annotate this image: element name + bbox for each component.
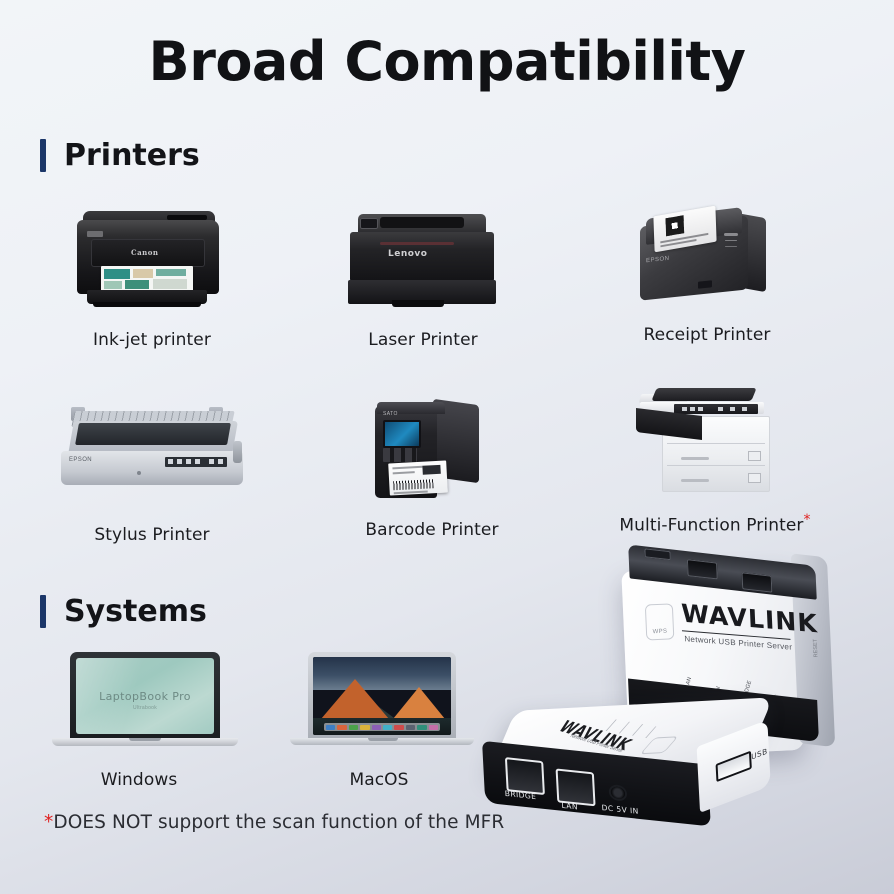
compat-item-receipt: EPSON Receipt Printer [582,193,832,345]
item-label: Stylus Printer [27,525,277,545]
compat-item-macos: MacOS [254,638,504,790]
product-photo-group: WPS WAVLINK Network USB Printer Server W… [470,535,894,894]
asterisk-marker: * [804,512,811,528]
section-header-systems: Systems [40,594,207,629]
laser-printer-icon: Lenovo [318,198,528,318]
printer-brand-mark: Lenovo [388,249,427,259]
printed-page [101,266,193,292]
printer-brand-mark: EPSON [69,457,92,463]
footnote-text: DOES NOT support the scan function of th… [53,812,504,833]
printer-brand-mark: Canon [131,248,158,257]
item-label: Multi-Function Printer* [590,512,840,536]
port-label-dc-in: DC 5V IN [601,803,638,816]
usb-a-port[interactable] [716,751,752,783]
page-title: Broad Compatibility [0,30,894,93]
section-title-systems: Systems [64,594,207,629]
lcd-screen [383,420,421,448]
compat-item-stylus: EPSON Stylus Printer [27,393,277,545]
macbook-icon [274,638,484,758]
macos-dock [324,723,440,731]
port-label-lan: LAN [561,801,578,812]
receipt-printer-icon: EPSON [602,193,812,313]
item-label: Laser Printer [298,330,548,350]
qr-code-icon [666,215,685,236]
reset-label: RESET [812,639,819,658]
item-label: Receipt Printer [582,325,832,345]
item-label: Windows [14,770,264,790]
windows-laptop-icon: LaptopBook Pro Ultrabook [34,638,244,758]
compat-item-mfp: Multi-Function Printer* [590,380,840,536]
dot-matrix-printer-icon: EPSON [47,393,257,513]
item-label: MacOS [254,770,504,790]
barcode-printer-icon: SATO [327,388,537,508]
footnote: *DOES NOT support the scan function of t… [44,812,504,833]
rj45-port [741,572,772,592]
screen-sub-text: Ultrabook [76,705,214,711]
compat-item-barcode: SATO Barcode Printer [307,388,557,540]
wps-label: WPS [647,628,673,635]
screen-brand-text: LaptopBook Pro [76,690,214,703]
section-title-printers: Printers [64,138,200,173]
barcode-label [388,461,448,496]
printer-server-unit-flat: WAVLINK Network USB Printer Server BRIDG… [479,698,776,853]
accent-bar-icon [40,595,46,628]
section-header-printers: Printers [40,138,200,173]
multifunction-printer-icon [610,380,820,500]
item-label: Ink-jet printer [27,330,277,350]
dc-power-jack[interactable] [611,786,626,799]
inkjet-printer-icon: Canon [47,198,257,318]
asterisk-marker: * [44,812,53,833]
printer-brand-mark: SATO [383,411,398,417]
port-label-usb: USB [751,746,768,761]
rj45-port [687,559,718,579]
wps-button[interactable]: WPS [645,603,675,640]
compat-item-laser: Lenovo Laser Printer [298,198,548,350]
infographic-page: Broad Compatibility Printers Canon In [0,0,894,894]
compat-item-windows: LaptopBook Pro Ultrabook Windows [14,638,264,790]
accent-bar-icon [40,139,46,172]
compat-item-inkjet: Canon Ink-jet printer [27,198,277,350]
barcode-icon [393,479,433,490]
